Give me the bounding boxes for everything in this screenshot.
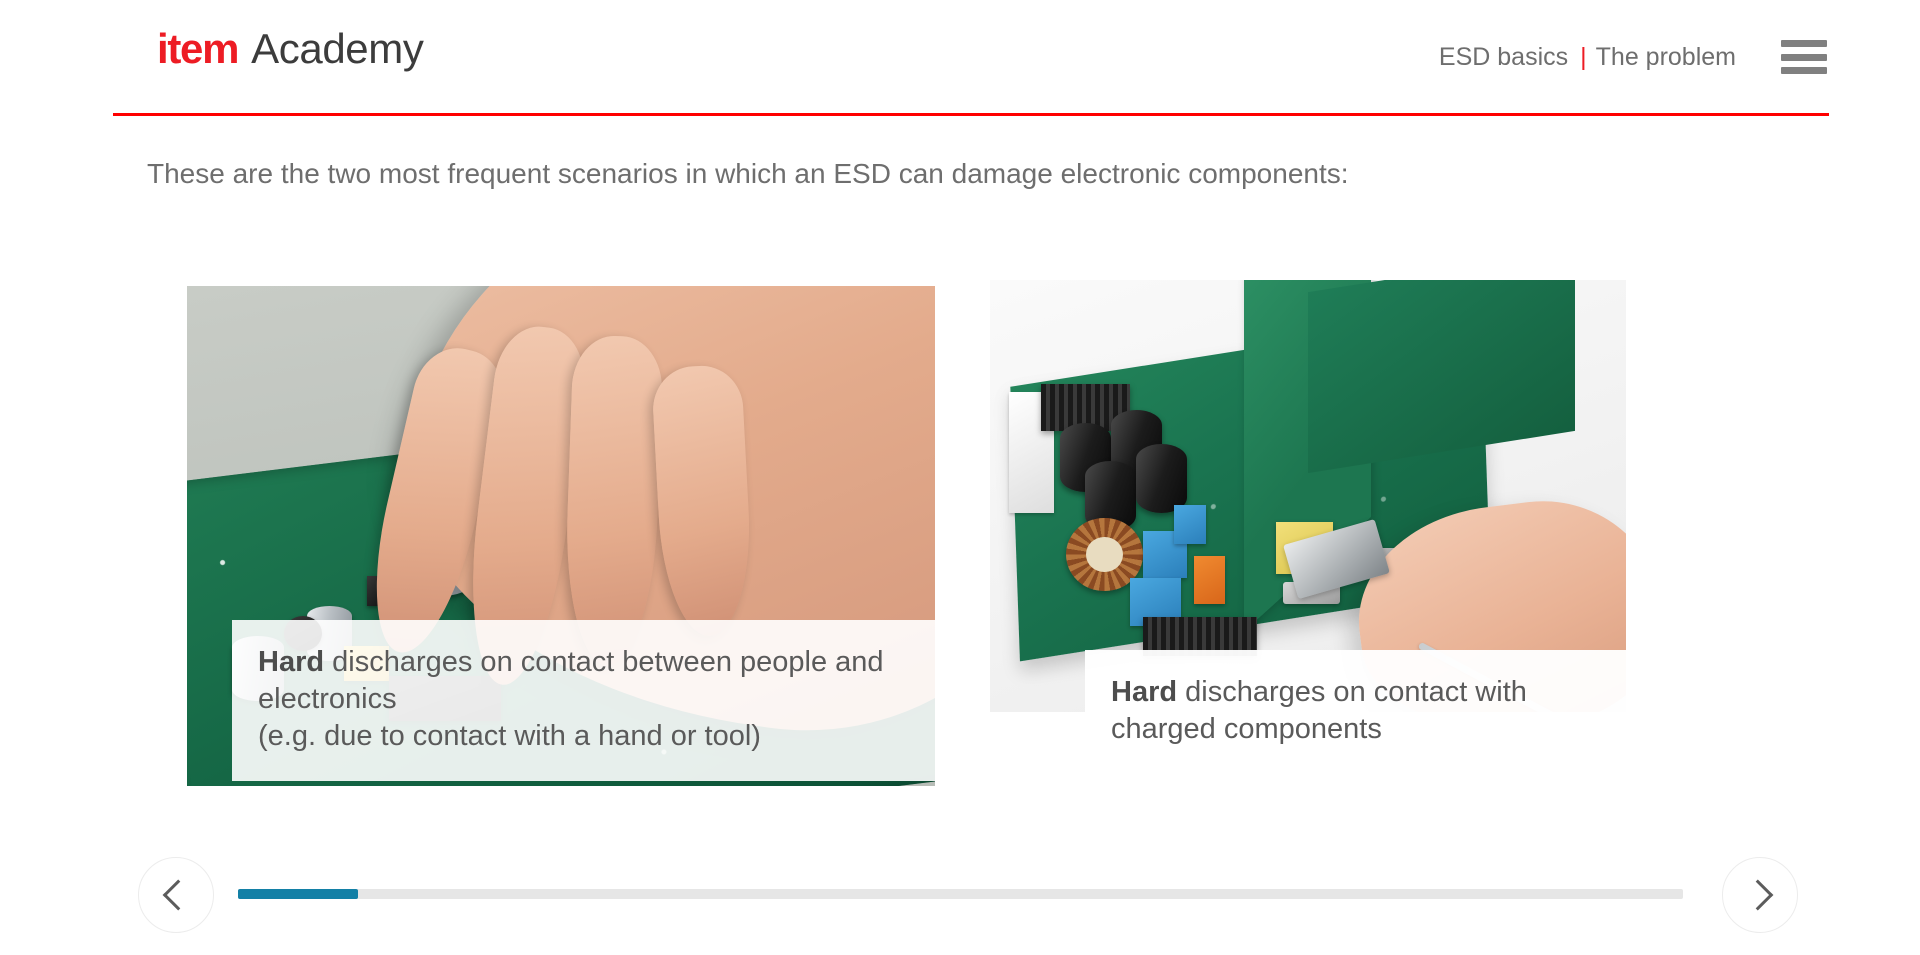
chevron-right-icon bbox=[1742, 879, 1773, 910]
header-divider bbox=[113, 113, 1829, 116]
caption-1-note: (e.g. due to contact with a hand or tool… bbox=[258, 720, 761, 752]
carousel-progress-fill bbox=[238, 889, 358, 899]
caption-2-emphasis: Hard bbox=[1111, 676, 1177, 708]
hamburger-bar-3 bbox=[1781, 67, 1827, 74]
site-header: item Academy ESD basics | The problem bbox=[0, 0, 1920, 116]
chevron-left-icon bbox=[163, 879, 194, 910]
caption-1-text: discharges on contact between people and… bbox=[258, 646, 884, 715]
page-root: item Academy ESD basics | The problem Th… bbox=[0, 0, 1920, 955]
scenario-caption-1: Hard discharges on contact between peopl… bbox=[232, 620, 935, 781]
breadcrumb-current[interactable]: The problem bbox=[1596, 45, 1736, 70]
scenario-caption-2: Hard discharges on contact with charged … bbox=[1085, 650, 1626, 776]
hamburger-bar-2 bbox=[1781, 54, 1827, 61]
carousel-controls bbox=[0, 845, 1920, 955]
carousel-prev-button[interactable] bbox=[138, 857, 214, 933]
brand-academy-text: Academy bbox=[251, 28, 423, 70]
caption-1-emphasis: Hard bbox=[258, 646, 324, 678]
capacitor-graphic bbox=[1136, 444, 1187, 513]
breadcrumb-parent[interactable]: ESD basics bbox=[1439, 45, 1568, 70]
scenario-card-2 bbox=[990, 280, 1626, 712]
blue-component-graphic bbox=[1174, 505, 1206, 544]
carousel-next-button[interactable] bbox=[1722, 857, 1798, 933]
intro-text: These are the two most frequent scenario… bbox=[147, 158, 1349, 190]
breadcrumb-separator: | bbox=[1580, 45, 1587, 70]
carousel-progress-track[interactable] bbox=[238, 889, 1683, 899]
hamburger-menu-icon[interactable] bbox=[1781, 40, 1827, 74]
brand-logo[interactable]: item Academy bbox=[157, 28, 423, 70]
brand-item-text: item bbox=[157, 28, 238, 70]
daughter-board-graphic bbox=[1308, 280, 1575, 474]
header-navigation: ESD basics | The problem bbox=[1439, 40, 1920, 74]
scenario-image-2 bbox=[990, 280, 1626, 712]
hamburger-bar-1 bbox=[1781, 40, 1827, 47]
orange-component-graphic bbox=[1194, 556, 1226, 604]
